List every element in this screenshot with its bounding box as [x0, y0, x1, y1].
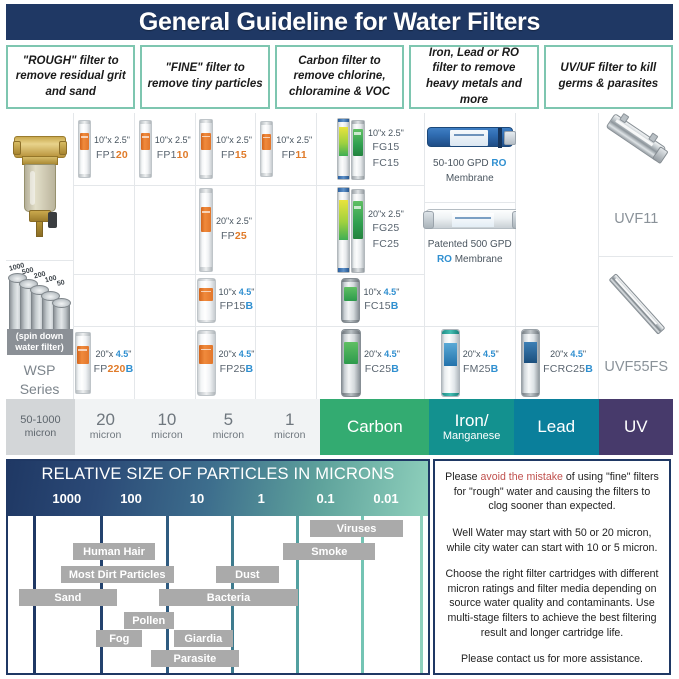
cartridge-fc25b-image — [341, 329, 361, 397]
product-label-fp120: 10"x 2.5" FP120 — [94, 134, 130, 163]
category-carbon: Carbon — [320, 399, 429, 455]
cell-20-empty-2 — [74, 275, 134, 327]
ro-membrane-large-image — [425, 209, 521, 229]
category-iron-manganese: Iron/Manganese — [429, 399, 514, 455]
cell-uvf55fs: UVF55FS — [599, 257, 673, 399]
ro-membrane-small-label: 50-100 GPD RO Membrane — [425, 157, 515, 186]
cell-iron-empty — [425, 275, 515, 327]
page-title: General Guideline for Water Filters — [139, 8, 540, 37]
column-lead: 20"x 4.5" FCRC25B — [516, 113, 600, 399]
notes-panel: Please avoid the mistake of using "fine"… — [433, 459, 671, 675]
header-description-row: "ROUGH" filter to remove residual grit a… — [6, 45, 673, 109]
cell-lead-empty-2 — [516, 203, 599, 275]
chart-tick-1: 1 — [258, 491, 265, 506]
category-5-micron: 5micron — [198, 399, 259, 455]
infographic-page: General Guideline for Water Filters "ROU… — [0, 0, 679, 679]
cartridge-fg15-fc15-image — [337, 118, 365, 180]
column-iron-manganese: 50-100 GPD RO Membrane Patented 500 GPD … — [425, 113, 516, 399]
cell-1-empty-3 — [256, 327, 316, 399]
note-paragraph-2: Well Water may start with 50 or 20 micro… — [443, 526, 661, 555]
header-box-fine: "FINE" filter to remove tiny particles — [140, 45, 269, 109]
chart-gridline-6 — [420, 516, 423, 673]
product-label-fp25: 20"x 2.5" FP25 — [216, 215, 252, 244]
cell-fg15-fc15: 10"x 2.5" FG15 FC15 — [317, 113, 424, 186]
header-box-text: UV/UF filter to kill germs & parasites — [550, 61, 667, 92]
cell-fp15: 10"x 2.5" FP15 — [196, 113, 256, 186]
chart-plot-area: VirusesSmokeHuman HairMost Dirt Particle… — [8, 516, 428, 673]
product-label-fp220b: 20"x 4.5" FP220B — [94, 348, 134, 377]
product-label-fg15-fc15: 10"x 2.5" FG15 FC15 — [368, 127, 404, 172]
cartridge-fp15-image — [199, 119, 213, 179]
chart-gridline-5 — [361, 516, 364, 673]
chart-tick-0.1: 0.1 — [316, 491, 334, 506]
cell-fp110: 10"x 2.5" FP110 — [135, 113, 195, 186]
cartridge-fp15b-image — [197, 278, 216, 323]
chart-tick-100: 100 — [120, 491, 142, 506]
note-paragraph-1: Please avoid the mistake of using "fine"… — [443, 470, 661, 514]
product-label-fc25b: 20"x 4.5" FC25B — [364, 348, 400, 377]
particle-bar-viruses: Viruses — [310, 520, 402, 537]
cell-fp220b: 20"x 4.5" FP220B — [74, 327, 134, 399]
cell-fp25: 20"x 2.5" FP25 — [196, 186, 256, 275]
cartridge-fp120-image — [78, 120, 91, 178]
cartridge-fg25-fc25-image — [337, 187, 365, 273]
category-1-micron: 1micron — [259, 399, 320, 455]
bottom-section: RELATIVE SIZE OF PARTICLES IN MICRONS 10… — [6, 459, 673, 675]
cell-wsp-brass — [6, 113, 73, 261]
particle-bar-bacteria: Bacteria — [159, 589, 298, 606]
category-footer-bar: 50-1000 micron 20micron 10micron 5micron… — [6, 399, 673, 455]
header-box-text: Carbon filter to remove chlorine, chlora… — [281, 54, 398, 101]
column-1-micron: 10"x 2.5" FP11 — [256, 113, 317, 399]
column-uv: UVF11 UVF55FS — [599, 113, 673, 399]
cell-10-empty-2 — [135, 275, 195, 327]
cell-1-empty-2 — [256, 275, 316, 327]
category-wsp: 50-1000 micron — [6, 399, 75, 455]
product-label-fp25b: 20"x 4.5" FP25B — [219, 348, 255, 377]
cell-1-empty-1 — [256, 186, 316, 275]
particle-size-chart: RELATIVE SIZE OF PARTICLES IN MICRONS 10… — [6, 459, 430, 675]
product-label-fp15: 10"x 2.5" FP15 — [216, 134, 252, 163]
cell-uvf11: UVF11 — [599, 113, 673, 257]
product-label-fg25-fc25: 20"x 2.5" FG25 FC25 — [368, 208, 404, 253]
cell-fc15b: 10"x 4.5" FC15B — [317, 275, 424, 327]
note-paragraph-4: Please contact us for more assistance. — [443, 652, 661, 667]
header-box-rough: "ROUGH" filter to remove residual grit a… — [6, 45, 135, 109]
cell-fp120: 10"x 2.5" FP120 — [74, 113, 134, 186]
product-label-uvf55fs: UVF55FS — [604, 359, 668, 375]
micron-mark: 100 — [44, 275, 57, 285]
cell-fp15b: 10"x 4.5" FP15B — [196, 275, 256, 327]
cartridge-fp220b-image — [75, 332, 91, 394]
product-grid: 1000 500 200 100 50 (spin down water fil… — [6, 113, 673, 399]
micron-mark: 500 — [21, 267, 34, 277]
cell-ro-large: Patented 500 GPD RO Membrane — [425, 203, 515, 275]
particle-bar-parasite: Parasite — [151, 650, 239, 667]
wsp-series-name: WSP Series — [20, 361, 60, 399]
page-title-bar: General Guideline for Water Filters — [6, 4, 673, 40]
cell-fg25-fc25: 20"x 2.5" FG25 FC25 — [317, 186, 424, 275]
column-carbon: 10"x 2.5" FG15 FC15 20"x 2.5" FG25 FC2 — [317, 113, 425, 399]
cell-ro-small: 50-100 GPD RO Membrane — [425, 113, 515, 203]
particle-bar-pollen: Pollen — [124, 612, 174, 629]
cartridge-fm25b-image — [441, 329, 460, 397]
header-box-carbon: Carbon filter to remove chlorine, chlora… — [275, 45, 404, 109]
header-box-metals: Iron, Lead or RO filter to remove heavy … — [409, 45, 538, 109]
header-box-text: Iron, Lead or RO filter to remove heavy … — [415, 46, 532, 108]
particle-bar-sand: Sand — [19, 589, 118, 606]
category-20-micron: 20micron — [75, 399, 136, 455]
cell-fcrc25b: 20"x 4.5" FCRC25B — [516, 327, 599, 399]
category-uv: UV — [599, 399, 673, 455]
chart-tick-10: 10 — [190, 491, 204, 506]
product-label-fp11: 10"x 2.5" FP11 — [276, 134, 312, 163]
brass-spin-down-filter-image — [12, 132, 68, 242]
product-label-uvf11: UVF11 — [614, 211, 658, 227]
cartridge-fp11-image — [260, 121, 273, 177]
cartridge-fc15b-image — [341, 278, 360, 323]
ro-membrane-large-label: Patented 500 GPD RO Membrane — [428, 238, 512, 267]
header-box-uv: UV/UF filter to kill germs & parasites — [544, 45, 673, 109]
product-label-fcrc25b: 20"x 4.5" FCRC25B — [543, 348, 593, 377]
spin-down-caption: (spin down water filter) — [7, 329, 73, 356]
uv-sterilizer-uvf11-image — [603, 121, 669, 195]
chart-tick-0.01: 0.01 — [373, 491, 398, 506]
cell-lead-empty-3 — [516, 275, 599, 327]
uv-sterilizer-uvf55fs-image — [603, 263, 669, 355]
header-box-text: "ROUGH" filter to remove residual grit a… — [12, 54, 129, 101]
cell-fp11: 10"x 2.5" FP11 — [256, 113, 316, 186]
cell-fc25b: 20"x 4.5" FC25B — [317, 327, 424, 399]
particle-bar-most-dirt-particles: Most Dirt Particles — [61, 566, 174, 583]
chart-header: RELATIVE SIZE OF PARTICLES IN MICRONS 10… — [8, 461, 428, 516]
product-label-fp110: 10"x 2.5" FP110 — [155, 134, 191, 163]
chart-tick-1000: 1000 — [52, 491, 81, 506]
column-20-micron: 10"x 2.5" FP120 20"x 4.5" FP220B — [74, 113, 135, 399]
note-paragraph-3: Choose the right filter cartridges with … — [443, 567, 661, 640]
cartridge-fp110-image — [139, 120, 152, 178]
cartridge-fcrc25b-image — [521, 329, 540, 397]
particle-bar-giardia: Giardia — [174, 630, 233, 647]
cell-lead-empty-1 — [516, 113, 599, 203]
particle-bar-fog: Fog — [96, 630, 142, 647]
header-box-text: "FINE" filter to remove tiny particles — [146, 61, 263, 92]
product-label-fc15b: 10"x 4.5" FC15B — [363, 286, 399, 315]
category-10-micron: 10micron — [136, 399, 197, 455]
particle-bar-smoke: Smoke — [283, 543, 375, 560]
category-lead: Lead — [514, 399, 599, 455]
wsp-spin-down-group-image: 1000 500 200 100 50 (spin down water fil… — [7, 263, 73, 353]
column-5-micron: 10"x 2.5" FP15 20"x 2.5" FP25 — [196, 113, 257, 399]
cell-fm25b: 20"x 4.5" FM25B — [425, 327, 515, 399]
product-label-fm25b: 20"x 4.5" FM25B — [463, 348, 499, 377]
column-wsp: 1000 500 200 100 50 (spin down water fil… — [6, 113, 74, 399]
column-10-micron: 10"x 2.5" FP110 — [135, 113, 196, 399]
cartridge-fp25-image — [199, 188, 213, 272]
ro-membrane-small-image — [427, 127, 513, 147]
chart-title: RELATIVE SIZE OF PARTICLES IN MICRONS — [8, 465, 428, 484]
product-label-fp15b: 10"x 4.5" FP15B — [219, 286, 255, 315]
cell-10-empty-1 — [135, 186, 195, 275]
cell-20-empty-1 — [74, 186, 134, 275]
micron-mark: 50 — [56, 279, 65, 288]
particle-bar-dust: Dust — [216, 566, 279, 583]
cell-wsp-series: 1000 500 200 100 50 (spin down water fil… — [6, 261, 73, 399]
cell-10-empty-3 — [135, 327, 195, 399]
particle-bar-human-hair: Human Hair — [73, 543, 155, 560]
cartridge-fp25b-image — [197, 330, 216, 396]
cell-fp25b: 20"x 4.5" FP25B — [196, 327, 256, 399]
